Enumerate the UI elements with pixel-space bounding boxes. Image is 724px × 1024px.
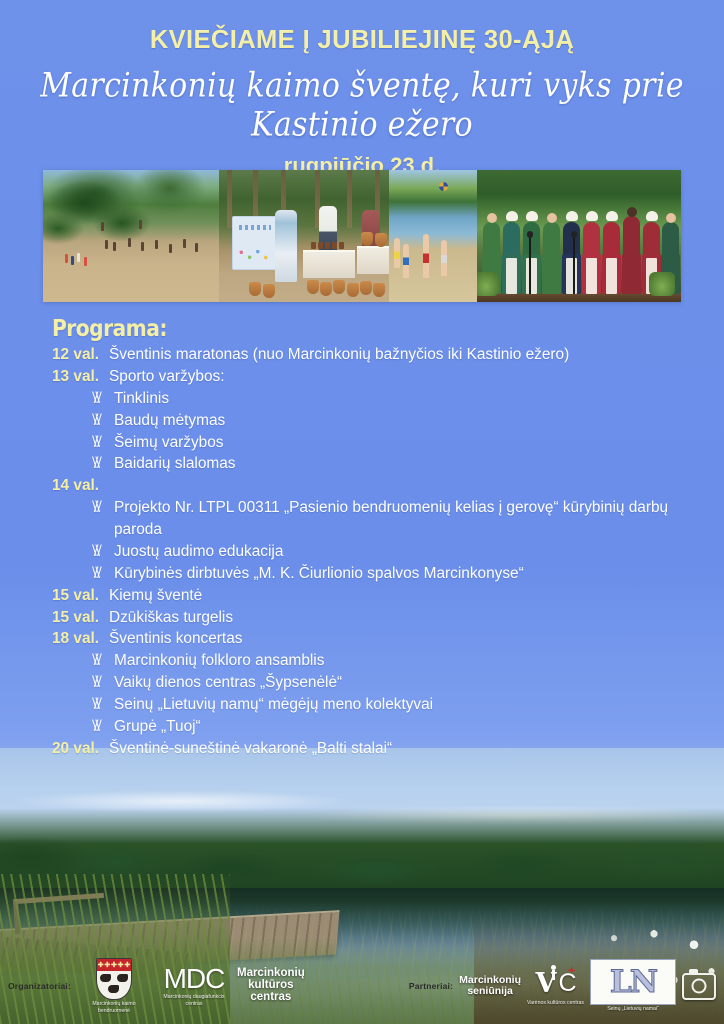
logo-caption: Varėnos kultūros centras [527,1000,584,1007]
program-subitem: \/\/Grupė „Tuoj“ [92,716,704,738]
chevron-bullet-icon: \/\/ [92,672,114,693]
folk-ensemble-photo [477,170,681,302]
program-subitem: \/\/Tinklinis [92,388,704,410]
program-time: 12 val. [52,344,104,366]
program-section: Programa: 12 val.Šventinis maratonas (nu… [52,316,704,760]
photo-strip [43,170,681,302]
program-subitem: \/\/Marcinkonių folkloro ansamblis [92,650,704,672]
program-item: 15 val.Kiemų šventė [52,585,704,607]
program-subitem-text: Marcinkonių folkloro ansamblis [114,650,704,672]
program-text: Šventinis maratonas (nuo Marcinkonių baž… [109,344,704,366]
program-subitem-text: Grupė „Tuoj“ [114,716,704,738]
microphone-stand-2 [573,236,575,294]
program-time: 13 val. [52,366,104,388]
program-time: 20 val. [52,738,104,760]
program-subitem-text: Seinų „Lietuvių namų“ mėgėjų meno kolekt… [114,694,704,716]
stage-flowers-right [649,272,675,296]
organizers-label: Organizatoriai: [8,981,71,991]
ln-monogram: LN [590,959,676,1005]
mdc-wordmark: MDC [164,965,225,993]
logo-caption: Marcinkonių daugiafunkcis centras [157,994,231,1007]
person-figure-icon [548,965,559,981]
logo-caption: Marcinkonių kaimo bendruomenė [77,1001,151,1014]
chevron-bullet-icon: \/\/ [92,716,114,737]
program-subitem-list: \/\/Marcinkonių folkloro ansamblis\/\/Va… [52,650,704,738]
program-subitem: \/\/Projekto Nr. LTPL 00311 „Pasienio be… [92,497,704,541]
program-subitem-text: Baidarių slalomas [114,453,704,475]
program-text: Šventinis koncertas [109,628,704,650]
logo-marcinkoniu-seniunija[interactable]: Marcinkonių seniūnija [459,975,521,997]
logo-photographer[interactable] [682,973,716,1000]
program-text: Sporto varžybos: [109,366,704,388]
program-row: 20 val.Šventinė-suneštinė vakaronė „Balt… [52,738,704,760]
footer-logos: Organizatoriai: ✚✚ ✚✚ ✚ Marcinkonių kaim… [0,948,724,1024]
chevron-bullet-icon: \/\/ [92,432,114,453]
program-list: 12 val.Šventinis maratonas (nuo Marcinko… [52,344,704,760]
market-visitor [275,210,297,282]
chevron-bullet-icon: \/\/ [92,563,114,584]
logo-marcinkoniu-kulturos-centras[interactable]: Marcinkonių kultūros centras [237,968,305,1004]
lake-volleyball-photo [389,170,477,302]
event-poster: KVIEČIAME Į JUBILIEJINĘ 30-ĄJĄ Marcinkon… [0,0,724,1024]
logo-seinu-lietuviu-namai[interactable]: LN Seinų „Lietuvių namai“ [590,959,676,1013]
program-subitem-text: Kūrybinės dirbtuvės „M. K. Čiurlionio sp… [114,563,704,585]
program-row: 13 val.Sporto varžybos: [52,366,704,388]
poster-header: KVIEČIAME Į JUBILIEJINĘ 30-ĄJĄ Marcinkon… [0,0,724,165]
market-table-right [357,246,389,274]
poster-subtitle: Marcinkonių kaimo šventę, kuri vyks prie… [0,55,724,145]
program-subitem-list: \/\/Projekto Nr. LTPL 00311 „Pasienio be… [52,497,704,585]
program-row: 12 val.Šventinis maratonas (nuo Marcinko… [52,344,704,366]
logo-vkc[interactable]: V C Varėnos kultūros centras [527,965,584,1007]
market-table [303,250,355,278]
program-subitem-text: Juostų audimo edukacija [114,541,704,563]
stage-flowers-left [477,272,499,296]
program-subitem: \/\/Juostų audimo edukacija [92,541,704,563]
chevron-bullet-icon: \/\/ [92,650,114,671]
program-item: 15 val.Dzūkiškas turgelis [52,607,704,629]
chevron-bullet-icon: \/\/ [92,453,114,474]
program-subitem-text: Vaikų dienos centras „Šypsenėlė“ [114,672,704,694]
program-row: 14 val. [52,475,704,497]
program-row: 15 val.Kiemų šventė [52,585,704,607]
program-text: Šventinė-suneštinė vakaronė „Balti stala… [109,738,704,760]
program-subitem: \/\/Šeimų varžybos [92,432,704,454]
program-row: 15 val.Dzūkiškas turgelis [52,607,704,629]
program-item: 18 val.Šventinis koncertas\/\/Marcinkoni… [52,628,704,737]
chevron-bullet-icon: \/\/ [92,541,114,562]
mkc-wordmark: Marcinkonių kultūros centras [237,968,305,1004]
program-subitem-text: Projekto Nr. LTPL 00311 „Pasienio bendru… [114,497,704,541]
program-item: 13 val.Sporto varžybos:\/\/Tinklinis\/\/… [52,366,704,475]
logo-caption: Seinų „Lietuvių namai“ [607,1006,659,1013]
program-subitem-text: Tinklinis [114,388,704,410]
craft-market-photo [219,170,389,302]
program-row: 18 val.Šventinis koncertas [52,628,704,650]
market-sign [232,216,278,270]
beach-figures [43,170,219,302]
partners-label: Partneriai: [409,981,453,991]
program-text: Dzūkiškas turgelis [109,607,704,629]
coat-of-arms-charges [97,972,131,997]
seniunija-wordmark: Marcinkonių seniūnija [459,975,521,997]
program-time: 15 val. [52,607,104,629]
program-subitem: \/\/Kūrybinės dirbtuvės „M. K. Čiurlioni… [92,563,704,585]
program-subitem: \/\/Baidarių slalomas [92,453,704,475]
program-subitem: \/\/Seinų „Lietuvių namų“ mėgėjų meno ko… [92,694,704,716]
logo-mdc[interactable]: MDC Marcinkonių daugiafunkcis centras [157,965,231,1007]
chevron-bullet-icon: \/\/ [92,694,114,715]
chevron-bullet-icon: \/\/ [92,497,114,518]
logo-marcinkoniu-bendruomene[interactable]: ✚✚ ✚✚ ✚ Marcinkonių kaimo bendruomenė [77,958,151,1014]
beach-sports-photo [43,170,219,302]
program-item: 12 val.Šventinis maratonas (nuo Marcinko… [52,344,704,366]
chevron-bullet-icon: \/\/ [92,388,114,409]
program-subitem: \/\/Baudų mėtymas [92,410,704,432]
program-item: 14 val.\/\/Projekto Nr. LTPL 00311 „Pasi… [52,475,704,584]
vkc-icon: V C [535,965,577,999]
program-subitem-list: \/\/Tinklinis\/\/Baudų mėtymas\/\/Šeimų … [52,388,704,476]
camera-icon [682,973,716,1000]
program-subitem: \/\/Vaikų dienos centras „Šypsenėlė“ [92,672,704,694]
program-time: 14 val. [52,475,104,497]
program-heading: Programa: [52,316,626,342]
page-title: KVIEČIAME Į JUBILIEJINĘ 30-ĄJĄ [0,0,724,55]
program-subitem-text: Šeimų varžybos [114,432,704,454]
chevron-bullet-icon: \/\/ [92,410,114,431]
program-subitem-text: Baudų mėtymas [114,410,704,432]
program-text: Kiemų šventė [109,585,704,607]
program-time: 18 val. [52,628,104,650]
coat-of-arms-icon: ✚✚ ✚✚ ✚ [96,958,132,1000]
program-item: 20 val.Šventinė-suneštinė vakaronė „Balt… [52,738,704,760]
volleyball [439,182,448,191]
microphone-stand [529,236,531,294]
program-time: 15 val. [52,585,104,607]
coat-of-arms-chief: ✚✚ ✚✚ ✚ [97,959,131,971]
